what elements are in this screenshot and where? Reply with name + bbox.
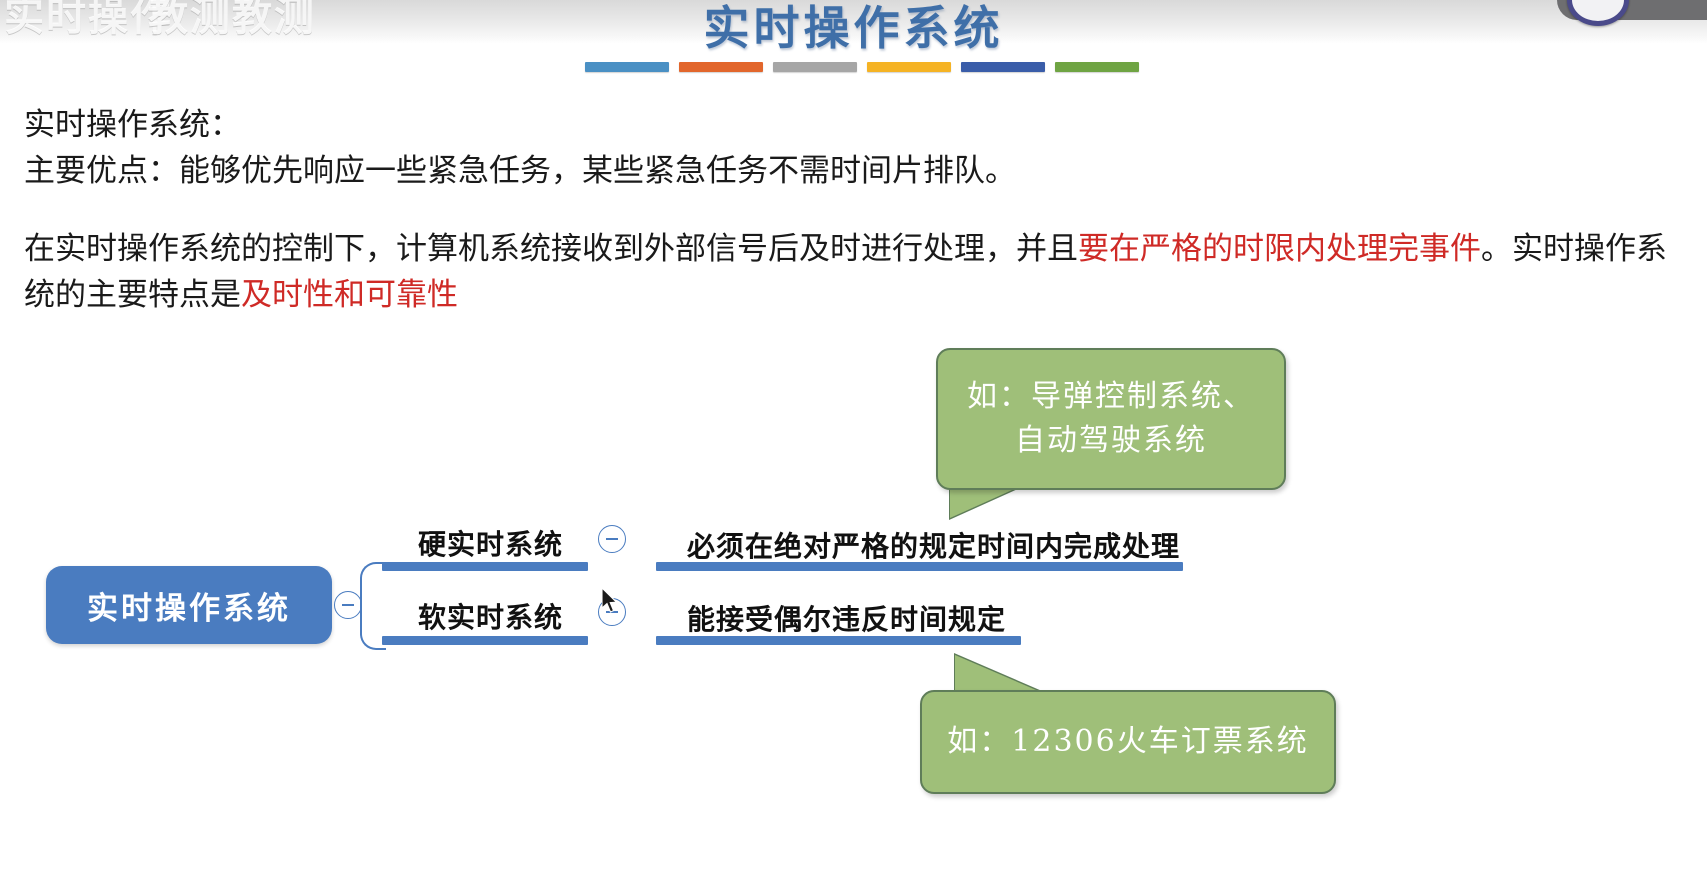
slide-canvas: 实时操作 教测教测 实时操作系统 实时操作系统： 主要优点：能够优先响应一些紧急…	[0, 0, 1707, 882]
intro-line-1: 实时操作系统：	[24, 102, 1684, 148]
mindmap-hard-underline-left	[382, 562, 588, 571]
rule-blue	[585, 62, 669, 72]
rule-darkblue	[961, 62, 1045, 72]
rule-amber	[867, 62, 951, 72]
callout-hard-realtime-example: 如：导弹控制系统、 自动驾驶系统	[936, 348, 1286, 490]
callout-soft-realtime-example: 如：12306火车订票系统	[920, 690, 1336, 794]
mindmap-node-soft-realtime[interactable]: 软实时系统	[418, 596, 563, 636]
mindmap-root-node[interactable]: 实时操作系统	[46, 566, 332, 644]
callout-hard-line-1: 如：导弹控制系统、	[967, 375, 1255, 419]
mindmap-node-hard-realtime[interactable]: 硬实时系统	[418, 523, 563, 563]
intro-paragraph: 实时操作系统： 主要优点：能够优先响应一些紧急任务，某些紧急任务不需时间片排队。	[24, 102, 1684, 194]
mindmap-hard-collapse-icon[interactable]	[598, 525, 626, 553]
detail-segment-black-1: 在实时操作系统的控制下，计算机系统接收到外部信号后及时进行处理，并且	[24, 231, 1078, 267]
rule-orange	[679, 62, 763, 72]
callout-soft-tail-icon	[955, 655, 1043, 693]
rule-gray	[773, 62, 857, 72]
mindmap-soft-underline-left	[382, 636, 588, 645]
title-rule-group	[585, 62, 1139, 72]
detail-segment-red-1: 要在严格的时限内处理完事件	[1078, 231, 1481, 267]
intro-line-2: 主要优点：能够优先响应一些紧急任务，某些紧急任务不需时间片排队。	[24, 148, 1684, 194]
mindmap-desc-hard-realtime[interactable]: 必须在绝对严格的规定时间内完成处理	[687, 525, 1180, 565]
mindmap-soft-collapse-icon[interactable]	[598, 598, 626, 626]
callout-soft-line-1: 如：12306火车订票系统	[947, 720, 1308, 764]
rule-green	[1055, 62, 1139, 72]
mindmap-desc-soft-realtime[interactable]: 能接受偶尔违反时间规定	[687, 598, 1006, 638]
callout-hard-line-2: 自动驾驶系统	[1015, 419, 1207, 463]
detail-segment-red-2: 及时性和可靠性	[241, 277, 458, 313]
mindmap-root-collapse-icon[interactable]	[334, 591, 362, 619]
detail-paragraph: 在实时操作系统的控制下，计算机系统接收到外部信号后及时进行处理，并且要在严格的时…	[24, 226, 1684, 318]
page-title: 实时操作系统	[0, 0, 1707, 56]
